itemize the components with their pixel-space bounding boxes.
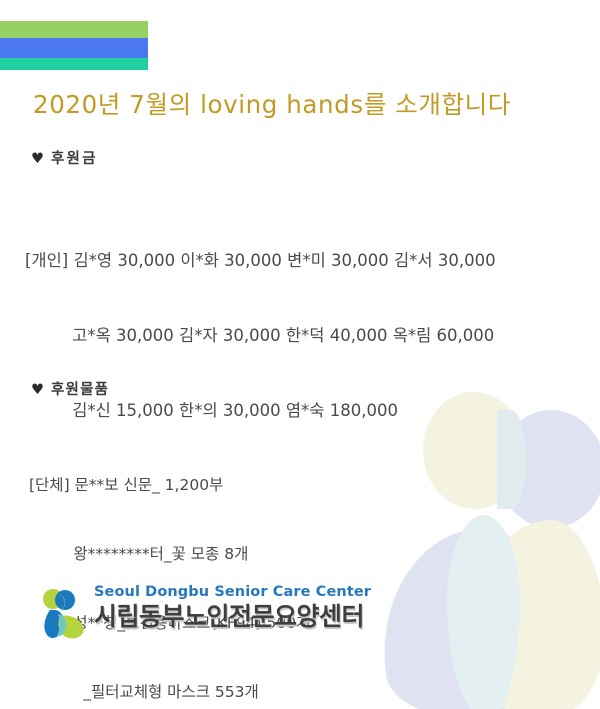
watermark-drop-yellow [470,520,600,709]
heart-icon: ♥ [31,151,44,167]
section-heading-label: 후원금 [51,151,98,167]
logo-korean-name: 시립동부노인전문요양센터 [94,602,371,632]
list-item: 왕********터_꽃 모종 8개 [29,543,310,566]
donation-goods-list: [단체] 문**보 신문_ 1,200부 왕********터_꽃 모종 8개 … [29,428,310,709]
page-title: 2020년 7월의 loving hands를 소개합니다 [33,86,511,121]
logo-english-name: Seoul Dongbu Senior Care Center [94,584,371,601]
watermark-drop-teal [447,515,520,709]
list-item: [단체] 문**보 신문_ 1,200부 [29,474,310,497]
top-color-bar [0,21,148,70]
color-stripe-teal [0,58,148,70]
watermark-circle-blue [497,410,600,528]
section-heading-donation-goods: ♥후원물품 [31,378,109,399]
color-stripe-green [0,21,148,38]
document-page: 2020년 7월의 loving hands를 소개합니다 ♥후원금 [개인] … [0,0,600,709]
care-center-logo-icon [38,586,90,644]
list-item: [개인] 김*영 30,000 이*화 30,000 변*미 30,000 김*… [25,248,496,273]
organization-logo: Seoul Dongbu Senior Care Center 시립동부노인전문… [38,582,371,644]
list-item: 고*옥 30,000 김*자 30,000 한*덕 40,000 옥*림 60,… [25,323,496,348]
list-item: _필터교체형 마스크 553개 [29,681,310,704]
list-item: 김*신 15,000 한*의 30,000 염*숙 180,000 [25,398,496,423]
section-heading-donation-money: ♥후원금 [31,147,98,168]
watermark-circle-overlap [497,410,526,509]
section-heading-label: 후원물품 [51,382,109,398]
color-stripe-blue [0,38,148,58]
heart-icon: ♥ [31,382,44,398]
watermark-drop-blue [368,518,578,709]
